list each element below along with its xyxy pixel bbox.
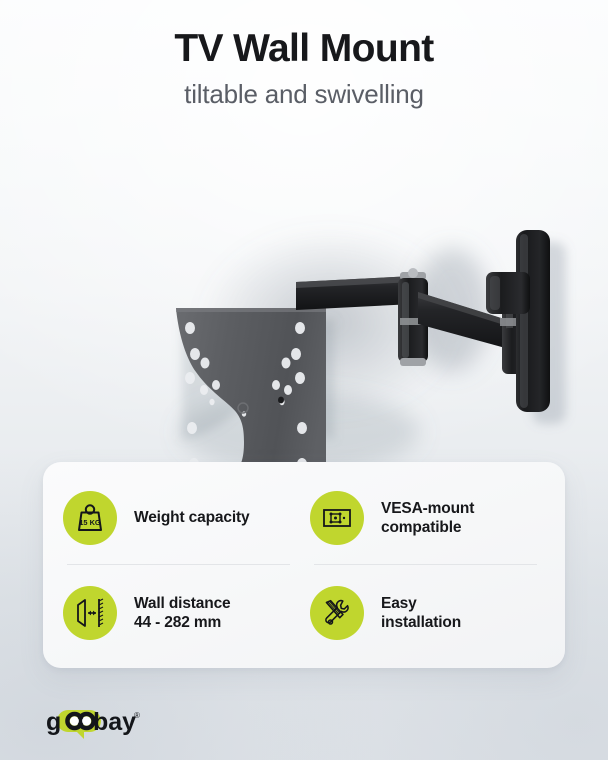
feature-line2: compatible: [381, 518, 474, 537]
page-title: TV Wall Mount: [0, 26, 608, 72]
tools-icon: [310, 586, 364, 640]
product-poster: TV Wall Mount tiltable and swivelling Bl…: [0, 0, 608, 760]
goobay-logo-mark: g bay ®: [46, 706, 150, 742]
feature-weight-capacity: 15 KG Weight capacity: [57, 470, 304, 565]
logo-letters-bay: bay: [93, 708, 136, 736]
goobay-logo: goobay® g bay ®: [46, 706, 150, 742]
feature-line1: VESA-mount: [381, 500, 474, 517]
wall-distance-icon: [63, 586, 117, 640]
feature-wall-distance-text: Wall distance 44 - 282 mm: [134, 594, 231, 632]
feature-card: 15 KG Weight capacity: [43, 462, 565, 668]
header: TV Wall Mount tiltable and swivelling: [0, 26, 608, 110]
feature-line2: installation: [381, 613, 461, 632]
product-illustration: [0, 132, 608, 462]
page-subtitle: tiltable and swivelling: [0, 78, 608, 110]
weight-icon-label: 15 KG: [79, 518, 101, 527]
weight-icon: 15 KG: [63, 491, 117, 545]
feature-easy-installation: Easy installation: [304, 565, 551, 660]
feature-line1: Wall distance: [134, 595, 231, 612]
feature-vesa-compatible-text: VESA-mount compatible: [381, 499, 474, 537]
feature-weight-capacity-text: Weight capacity: [134, 508, 249, 527]
logo-trademark: ®: [134, 711, 140, 720]
product-image: Black tiltable and swivelling TV wall mo…: [0, 132, 608, 462]
vesa-plate-icon: [310, 491, 364, 545]
logo-letter-g: g: [46, 708, 61, 736]
feature-line2: 44 - 282 mm: [134, 613, 231, 632]
feature-wall-distance: Wall distance 44 - 282 mm: [57, 565, 304, 660]
feature-easy-installation-text: Easy installation: [381, 594, 461, 632]
feature-vesa-compatible: VESA-mount compatible: [304, 470, 551, 565]
feature-line1: Easy: [381, 595, 417, 612]
feature-line1: Weight capacity: [134, 509, 249, 526]
